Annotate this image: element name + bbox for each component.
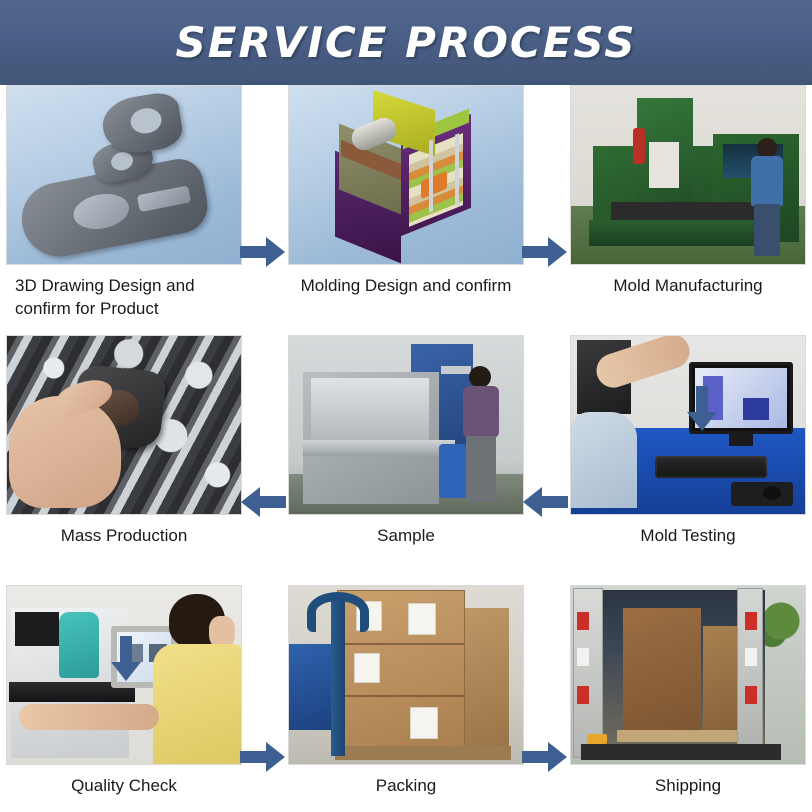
carton-label-4 bbox=[410, 707, 438, 739]
worker-legs bbox=[754, 204, 780, 256]
truck-lamp bbox=[587, 734, 607, 744]
arrow-down-column1 bbox=[109, 636, 143, 682]
reflector-2 bbox=[577, 648, 589, 666]
technician-head bbox=[469, 366, 491, 388]
reflector-3 bbox=[577, 686, 589, 704]
page-title: SERVICE PROCESS bbox=[176, 18, 637, 67]
workbench-top bbox=[303, 440, 455, 456]
service-process-infographic: SERVICE PROCESS 3D Drawing Design and co… bbox=[0, 0, 812, 812]
operator-shoulder bbox=[571, 412, 637, 508]
process-row-1: 3D Drawing Design and confirm for Produc… bbox=[0, 85, 812, 335]
process-row-2: Mass Production bbox=[0, 335, 812, 585]
step-caption-sample: Sample bbox=[288, 524, 524, 547]
step-image-mass-production bbox=[6, 335, 242, 515]
mold-guide-pin-2 bbox=[455, 133, 459, 207]
technician-legs bbox=[466, 436, 496, 502]
reflector-1 bbox=[577, 612, 589, 630]
cnc-head bbox=[649, 142, 679, 188]
process-step-3d-drawing-design[interactable]: 3D Drawing Design and confirm for Produc… bbox=[6, 85, 242, 321]
arrow-left-row2-2 bbox=[522, 485, 568, 519]
carton-stack-left bbox=[623, 608, 701, 730]
reflector-6 bbox=[745, 686, 757, 704]
worker-head bbox=[757, 138, 777, 158]
carton-seam-1 bbox=[338, 643, 464, 645]
process-step-molding-design[interactable]: Molding Design and confirm bbox=[288, 85, 524, 297]
arrow-right-row1-2 bbox=[522, 235, 568, 269]
step-image-mold-manufacturing bbox=[570, 85, 806, 265]
mold-guide-pin-1 bbox=[429, 139, 433, 213]
arrow-right-row1-1 bbox=[240, 235, 286, 269]
process-step-mold-manufacturing[interactable]: Mold Manufacturing bbox=[570, 85, 806, 297]
process-row-3: Quality Check bbox=[0, 585, 812, 812]
arrow-down-column3 bbox=[685, 386, 719, 432]
step-caption-shipping: Shipping bbox=[570, 774, 806, 797]
process-step-shipping[interactable]: Shipping bbox=[570, 585, 806, 797]
carton-label-3 bbox=[354, 653, 380, 683]
carton-stack-back bbox=[465, 608, 509, 750]
process-step-packing[interactable]: Packing bbox=[288, 585, 524, 797]
tree bbox=[761, 592, 801, 650]
carton-seam-2 bbox=[338, 695, 464, 697]
keyboard bbox=[655, 456, 767, 478]
technician-figure bbox=[461, 366, 501, 506]
process-step-sample[interactable]: Sample bbox=[288, 335, 524, 547]
step-caption-quality-check: Quality Check bbox=[6, 774, 242, 797]
step-caption-mold-manufacturing: Mold Manufacturing bbox=[570, 274, 806, 297]
process-step-quality-check[interactable]: Quality Check bbox=[6, 585, 242, 797]
step-image-packing bbox=[288, 585, 524, 765]
process-step-mold-testing[interactable]: Mold Testing bbox=[570, 335, 806, 547]
step-caption-mold-testing: Mold Testing bbox=[570, 524, 806, 547]
step-caption-molding-design: Molding Design and confirm bbox=[288, 274, 524, 297]
page-header: SERVICE PROCESS bbox=[0, 0, 812, 85]
technician-torso bbox=[463, 386, 499, 438]
step-image-shipping bbox=[570, 585, 806, 765]
inspector-arm bbox=[19, 704, 159, 730]
step-image-3d-drawing-design bbox=[6, 85, 242, 265]
arrow-right-row3-1 bbox=[240, 740, 286, 774]
monitor-stand bbox=[729, 434, 753, 446]
step-image-sample bbox=[288, 335, 524, 515]
arrow-right-row3-2 bbox=[522, 740, 568, 774]
machine-dark-panel bbox=[15, 612, 59, 646]
blue-bin bbox=[289, 644, 331, 730]
step-image-molding-design bbox=[288, 85, 524, 265]
truck-bumper bbox=[581, 744, 781, 760]
mouse-pad bbox=[731, 482, 793, 506]
machine-teal-cover bbox=[59, 612, 99, 678]
reflector-5 bbox=[745, 648, 757, 666]
mold-cad-model bbox=[329, 100, 491, 252]
process-grid: 3D Drawing Design and confirm for Produc… bbox=[0, 85, 812, 812]
inspector-figure bbox=[147, 592, 242, 765]
workbench-hood bbox=[311, 378, 429, 440]
wooden-pallet bbox=[335, 746, 511, 760]
carton-label-2 bbox=[408, 603, 436, 635]
step-caption-packing: Packing bbox=[288, 774, 524, 797]
worker-figure bbox=[749, 138, 785, 256]
workshop-photo bbox=[571, 86, 805, 264]
worker-torso bbox=[751, 156, 783, 206]
computer-mouse bbox=[763, 486, 781, 500]
cnc-red-cylinder bbox=[633, 128, 645, 164]
process-step-mass-production[interactable]: Mass Production bbox=[6, 335, 242, 547]
arrow-left-row2-1 bbox=[240, 485, 286, 519]
pallet-jack-handle bbox=[307, 592, 369, 632]
machine-bed bbox=[611, 202, 761, 220]
step-caption-mass-production: Mass Production bbox=[6, 524, 242, 547]
reflector-4 bbox=[745, 612, 757, 630]
inspector-yellow-shirt bbox=[153, 644, 242, 765]
step-caption-3d-drawing-design: 3D Drawing Design and confirm for Produc… bbox=[6, 274, 242, 321]
